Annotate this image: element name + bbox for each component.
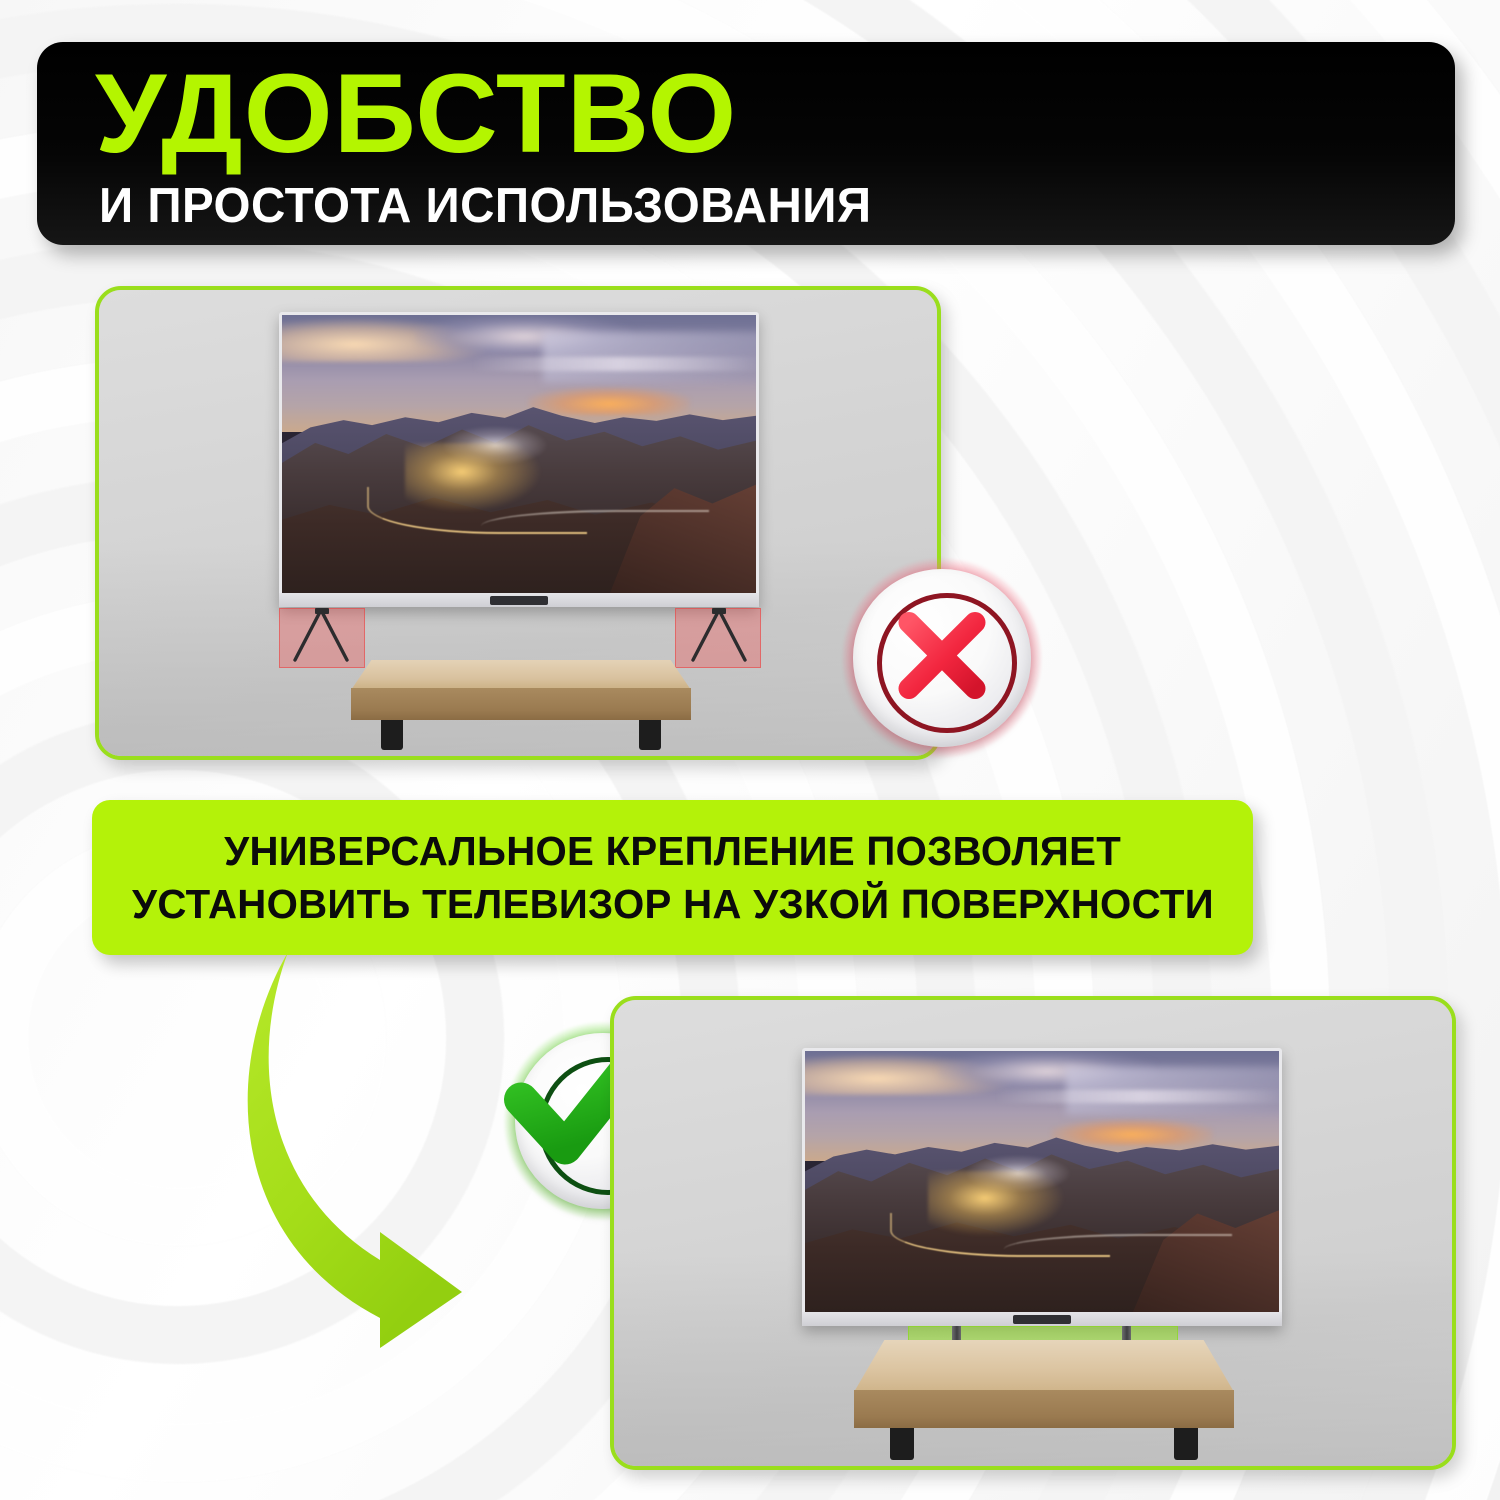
page-subtitle: И ПРОСТОТА ИСПОЛЬЗОВАНИЯ [99,182,872,231]
screen-cloud [472,357,756,371]
tv-foot-right [683,608,753,664]
infographic-canvas: УДОБСТВО И ПРОСТОТА ИСПОЛЬЗОВАНИЯ [0,0,1500,1500]
photo-card-bad-setup [95,286,941,760]
screen-sunset-glow [528,387,689,415]
tv-bezel [279,312,759,607]
tv-ir-bar [490,596,548,605]
console-front-panel [854,1390,1234,1428]
photo-card-good-setup [610,996,1456,1470]
page-title: УДОБСТВО [95,58,737,170]
tv-screen [805,1051,1279,1312]
screen-cloud [995,1090,1279,1103]
cross-icon [834,550,1050,766]
console-leg-left [890,1428,914,1460]
tv-screen [282,315,756,593]
tv-bezel [802,1048,1282,1326]
screen-sunset-glow [1051,1119,1212,1145]
console-front-panel [351,688,691,720]
callout-line-1: УНИВЕРСАЛЬНОЕ КРЕПЛЕНИЕ ПОЗВОЛЯЕТ [224,825,1121,877]
cross-icon-glyph [887,601,997,716]
callout-line-2: УСТАНОВИТЬ ТЕЛЕВИЗОР НА УЗКОЙ ПОВЕРХНОСТ… [132,878,1214,930]
tv-ir-bar [1013,1315,1071,1324]
tv-unit-bottom [802,1048,1282,1326]
console-leg-left [381,720,403,750]
console-leg-right [639,720,661,750]
tv-unit-top [279,312,759,607]
tv-foot-left [287,608,357,664]
callout-banner: УНИВЕРСАЛЬНОЕ КРЕПЛЕНИЕ ПОЗВОЛЯЕТ УСТАНО… [92,800,1253,955]
console-top-surface [351,660,691,690]
console-top-surface [854,1340,1234,1392]
console-leg-right [1174,1428,1198,1460]
header-banner: УДОБСТВО И ПРОСТОТА ИСПОЛЬЗОВАНИЯ [37,42,1455,245]
